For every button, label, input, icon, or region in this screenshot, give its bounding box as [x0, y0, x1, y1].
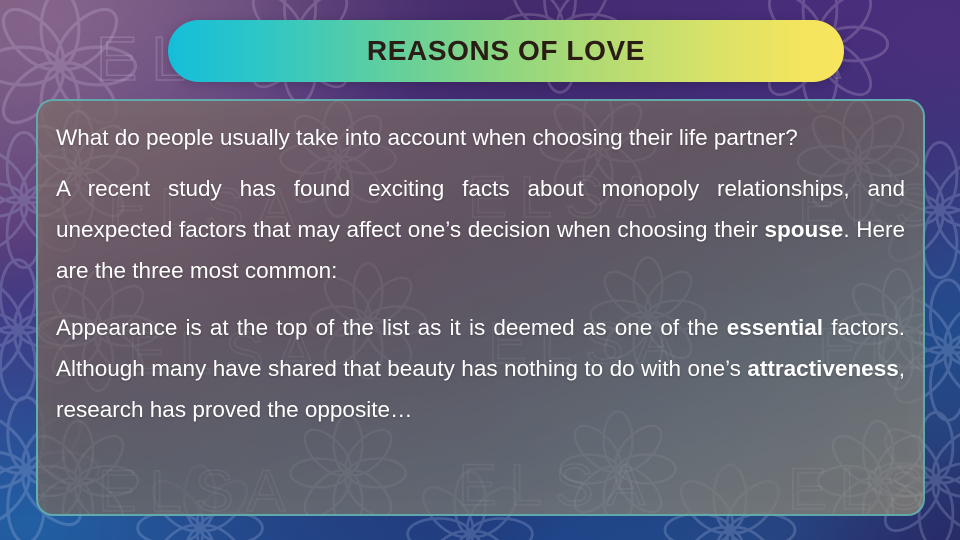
emphasis-text: attractiveness	[747, 356, 898, 381]
paragraph-study-intro: A recent study has found exciting facts …	[56, 168, 905, 291]
content-card: ELSA ELSA ELS ELSA ELSA ELS ELSA ELSA EL…	[36, 99, 925, 516]
emphasis-text: essential	[727, 315, 823, 340]
body-text: Appearance is at the top of the list as …	[56, 315, 727, 340]
paragraph-appearance-point: Appearance is at the top of the list as …	[56, 307, 905, 430]
emphasis-text: spouse	[765, 217, 844, 242]
slide-title-banner: REASONS OF LOVE	[168, 20, 844, 82]
slide-canvas: ELSA ELSA REASONS OF LOVE	[0, 0, 960, 540]
card-body: What do people usually take into account…	[38, 101, 923, 514]
paragraph-question: What do people usually take into account…	[56, 117, 905, 158]
body-text: What do people usually take into account…	[56, 125, 798, 150]
page-title: REASONS OF LOVE	[367, 35, 645, 67]
